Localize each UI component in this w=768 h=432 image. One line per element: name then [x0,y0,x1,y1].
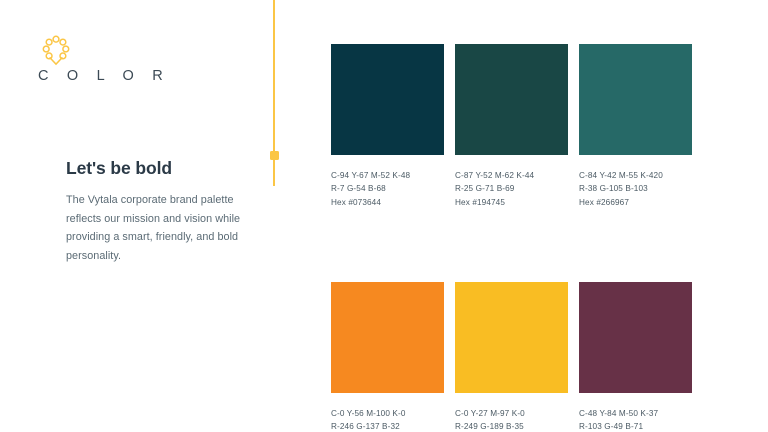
swatch-hex: Hex #194745 [455,196,568,209]
swatch-rgb: R-7 G-54 B-68 [331,182,444,195]
swatch-card[interactable]: C-84 Y-42 M-55 K-420 R-38 G-105 B-103 He… [579,44,692,209]
swatch-meta: C-48 Y-84 M-50 K-37 R-103 G-49 B-71 Hex … [579,407,692,432]
swatch-cmyk: C-0 Y-27 M-97 K-0 [455,407,568,420]
color-swatch-grid: C-94 Y-67 M-52 K-48 R-7 G-54 B-68 Hex #0… [331,44,692,432]
swatch-hex: Hex #266967 [579,196,692,209]
swatch-card[interactable]: C-48 Y-84 M-50 K-37 R-103 G-49 B-71 Hex … [579,282,692,432]
body-paragraph: The Vytala corporate brand palette refle… [66,191,241,265]
flower-lotus-icon [41,34,71,66]
intro-copy-block: Let's be bold The Vytala corporate brand… [66,158,241,265]
swatch-cmyk: C-87 Y-52 M-62 K-44 [455,169,568,182]
swatch-cmyk: C-84 Y-42 M-55 K-420 [579,169,692,182]
swatch-meta: C-94 Y-67 M-52 K-48 R-7 G-54 B-68 Hex #0… [331,169,444,209]
swatch-rgb: R-246 G-137 B-32 [331,420,444,432]
swatch-cmyk: C-0 Y-56 M-100 K-0 [331,407,444,420]
brand-block: C O L O R [38,34,218,84]
slide-canvas: C O L O R Let's be bold The Vytala corpo… [0,0,768,432]
swatch-rgb: R-103 G-49 B-71 [579,420,692,432]
swatch-meta: C-87 Y-52 M-62 K-44 R-25 G-71 B-69 Hex #… [455,169,568,209]
divider-dot-marker [270,151,279,160]
swatch-color-chip[interactable] [455,282,568,393]
swatch-color-chip[interactable] [331,282,444,393]
swatch-rgb: R-38 G-105 B-103 [579,182,692,195]
swatch-color-chip[interactable] [331,44,444,155]
swatch-meta: C-0 Y-27 M-97 K-0 R-249 G-189 B-35 Hex #… [455,407,568,432]
swatch-color-chip[interactable] [579,44,692,155]
swatch-cmyk: C-94 Y-67 M-52 K-48 [331,169,444,182]
swatch-meta: C-0 Y-56 M-100 K-0 R-246 G-137 B-32 Hex … [331,407,444,432]
swatch-meta: C-84 Y-42 M-55 K-420 R-38 G-105 B-103 He… [579,169,692,209]
swatch-color-chip[interactable] [455,44,568,155]
swatch-card[interactable]: C-94 Y-67 M-52 K-48 R-7 G-54 B-68 Hex #0… [331,44,444,209]
brand-wordmark: C O L O R [38,69,218,84]
swatch-card[interactable]: C-87 Y-52 M-62 K-44 R-25 G-71 B-69 Hex #… [455,44,568,209]
swatch-cmyk: C-48 Y-84 M-50 K-37 [579,407,692,420]
swatch-rgb: R-25 G-71 B-69 [455,182,568,195]
swatch-rgb: R-249 G-189 B-35 [455,420,568,432]
swatch-card[interactable]: C-0 Y-56 M-100 K-0 R-246 G-137 B-32 Hex … [331,282,444,432]
left-panel: C O L O R Let's be bold The Vytala corpo… [0,0,255,432]
swatch-card[interactable]: C-0 Y-27 M-97 K-0 R-249 G-189 B-35 Hex #… [455,282,568,432]
swatch-hex: Hex #073644 [331,196,444,209]
swatch-color-chip[interactable] [579,282,692,393]
headline: Let's be bold [66,158,241,179]
